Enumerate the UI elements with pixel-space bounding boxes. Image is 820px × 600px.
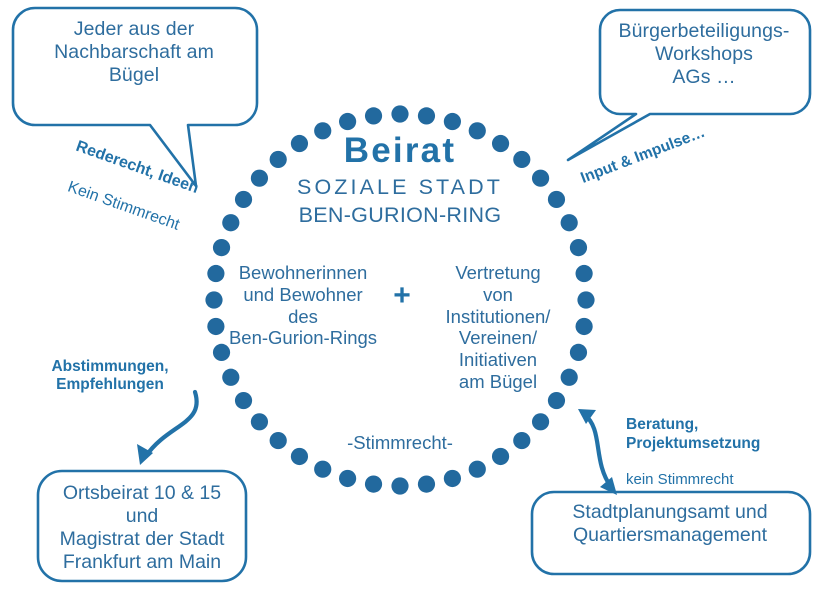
ring-dot (548, 191, 565, 208)
center-title: Beirat (250, 130, 550, 171)
ring-dot (365, 476, 382, 493)
arrow-label-beratung-regular: kein Stimmrecht (626, 471, 792, 489)
center-subtitle-2: BEN-GURION-RING (250, 203, 550, 228)
arrow-to-ortsbeirat (137, 392, 197, 465)
ring-dot (213, 239, 230, 256)
arrow-beratung-double (578, 409, 617, 495)
ring-dot (532, 413, 549, 430)
center-column-left: Bewohnerinnen und Bewohner des Ben-Gurio… (218, 262, 388, 349)
ring-dot (548, 392, 565, 409)
ring-dot (492, 448, 509, 465)
arrow-label-beratung-bold: Beratung, Projektumsetzung (626, 416, 792, 453)
diagram-canvas: Jeder aus der Nachbarschaft am Bügel Bür… (0, 0, 820, 600)
ring-dot (314, 461, 331, 478)
ring-dot (561, 214, 578, 231)
ring-dot (365, 107, 382, 124)
ring-dot (291, 448, 308, 465)
ring-dot (391, 477, 408, 494)
ring-dot (570, 344, 587, 361)
ring-dot (418, 107, 435, 124)
bubble-text-top-right: Bürgerbeteiligungs- Workshops AGs … (604, 20, 804, 89)
ring-dot (444, 113, 461, 130)
ring-dot (577, 291, 594, 308)
ring-dot (391, 105, 408, 122)
ring-dot (418, 476, 435, 493)
ring-dot (222, 369, 239, 386)
ring-dot (576, 265, 593, 282)
bubble-text-top-left: Jeder aus der Nachbarschaft am Bügel (28, 18, 240, 87)
ring-dot (570, 239, 587, 256)
arrow-label-beratung: Beratung, Projektumsetzung kein Stimmrec… (626, 398, 792, 507)
ring-dot (513, 432, 530, 449)
ring-dot (251, 413, 268, 430)
ring-dot (222, 214, 239, 231)
center-subtitle-1: SOZIALE STADT (250, 175, 550, 200)
center-column-right: Vertretung von Institutionen/ Vereinen/ … (424, 262, 572, 393)
arrow-label-abstimmungen: Abstimmungen, Empfehlungen (34, 358, 186, 395)
ring-dot (469, 461, 486, 478)
box-text-bottom-left: Ortsbeirat 10 & 15 und Magistrat der Sta… (42, 482, 242, 574)
ring-dot (235, 392, 252, 409)
box-text-bottom-right: Stadtplanungsamt und Quartiersmanagement (532, 501, 808, 547)
ring-dot (339, 470, 356, 487)
ring-dot (270, 432, 287, 449)
ring-dot (444, 470, 461, 487)
ring-dot (339, 113, 356, 130)
center-footer-stimmrecht: -Stimmrecht- (318, 432, 482, 454)
ring-dot (576, 318, 593, 335)
plus-icon: + (384, 278, 420, 313)
